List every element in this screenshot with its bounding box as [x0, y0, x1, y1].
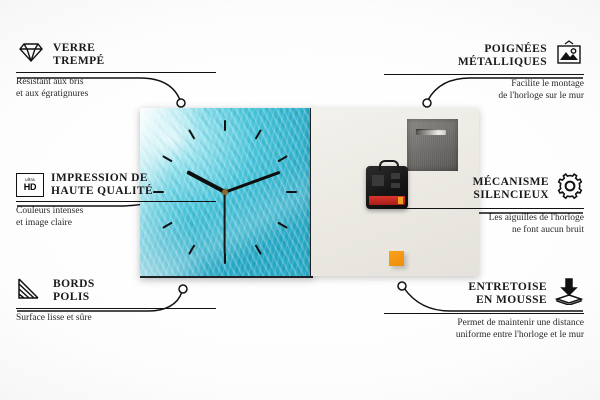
feature-title: MÉCANISME: [473, 176, 549, 189]
feature-desc: Les aiguilles de l'horloge: [384, 213, 584, 225]
hour-mark: [224, 253, 226, 264]
infographic-canvas: VERRE TREMPÉ Résistant aux bris et aux é…: [0, 0, 600, 400]
hanger-keyhole-slot: [416, 129, 446, 135]
feature-mecanisme-silencieux: MÉCANISME SILENCIEUX Les aiguilles de l'…: [384, 172, 584, 236]
mechanism-detail: [372, 175, 384, 186]
feature-poignees-metalliques: POIGNÉES MÉTALLIQUES Facilite le montage…: [384, 40, 584, 102]
hour-mark: [255, 244, 262, 255]
gear-icon: [556, 172, 584, 205]
feature-title: ENTRETOISE: [468, 281, 547, 294]
hand-center-cap: [222, 189, 228, 195]
picture-frame-hook-icon: [554, 40, 584, 71]
minute-hand: [224, 171, 280, 194]
hour-mark: [188, 129, 195, 140]
feature-entretoise-en-mousse: ENTRETOISE EN MOUSSE Permet de maintenir…: [384, 277, 584, 341]
divider: [384, 74, 584, 75]
connector-dot-verre: [177, 99, 185, 107]
hour-mark: [277, 155, 288, 162]
foam-spacer: [389, 251, 404, 266]
feature-desc: et aux égratignures: [16, 89, 216, 101]
divider: [16, 72, 216, 73]
hour-mark: [255, 129, 262, 140]
metal-hanger-plate: [407, 119, 458, 171]
feature-title: IMPRESSION DE: [51, 172, 153, 185]
polished-edge-icon: [16, 277, 46, 305]
foam-spacer-arrow-icon: [554, 277, 584, 310]
divider: [16, 308, 216, 309]
feature-impression-haute-qualite: ultra HD IMPRESSION DE HAUTE QUALITÉ Cou…: [16, 172, 216, 229]
feature-desc: et image claire: [16, 218, 216, 230]
diamond-icon: [16, 40, 46, 69]
mechanism-hanger-loop: [379, 160, 399, 171]
second-hand: [224, 192, 226, 254]
hour-mark: [224, 120, 226, 131]
feature-title: BORDS: [53, 278, 95, 291]
feature-title: EN MOUSSE: [468, 294, 547, 307]
divider: [384, 313, 584, 314]
feature-bords-polis: BORDS POLIS Surface lisse et sûre: [16, 277, 216, 325]
ultra-hd-large-text: HD: [24, 183, 36, 192]
divider: [16, 201, 216, 202]
ultra-hd-icon: ultra HD: [16, 173, 44, 197]
hour-mark: [286, 191, 297, 193]
feature-desc: ne font aucun bruit: [384, 225, 584, 237]
feature-title: VERRE: [53, 42, 105, 55]
feature-title: TREMPÉ: [53, 55, 105, 68]
hour-mark: [188, 244, 195, 255]
feature-desc: Permet de maintenir une distance: [384, 318, 584, 330]
divider: [384, 208, 584, 209]
feature-desc: de l'horloge sur le mur: [384, 91, 584, 103]
hour-mark: [162, 155, 173, 162]
hour-mark: [277, 222, 288, 229]
feature-verre-trempe: VERRE TREMPÉ Résistant aux bris et aux é…: [16, 40, 216, 100]
feature-desc: Couleurs intenses: [16, 206, 216, 218]
feature-title: MÉTALLIQUES: [458, 56, 547, 69]
feature-title: HAUTE QUALITÉ: [51, 185, 153, 198]
feature-title: POLIS: [53, 291, 95, 304]
feature-desc: Facilite le montage: [384, 79, 584, 91]
feature-desc: uniforme entre l'horloge et le mur: [384, 330, 584, 342]
feature-desc: Surface lisse et sûre: [16, 313, 216, 325]
feature-title: POIGNÉES: [458, 43, 547, 56]
feature-desc: Résistant aux bris: [16, 77, 216, 89]
feature-title: SILENCIEUX: [473, 189, 549, 202]
